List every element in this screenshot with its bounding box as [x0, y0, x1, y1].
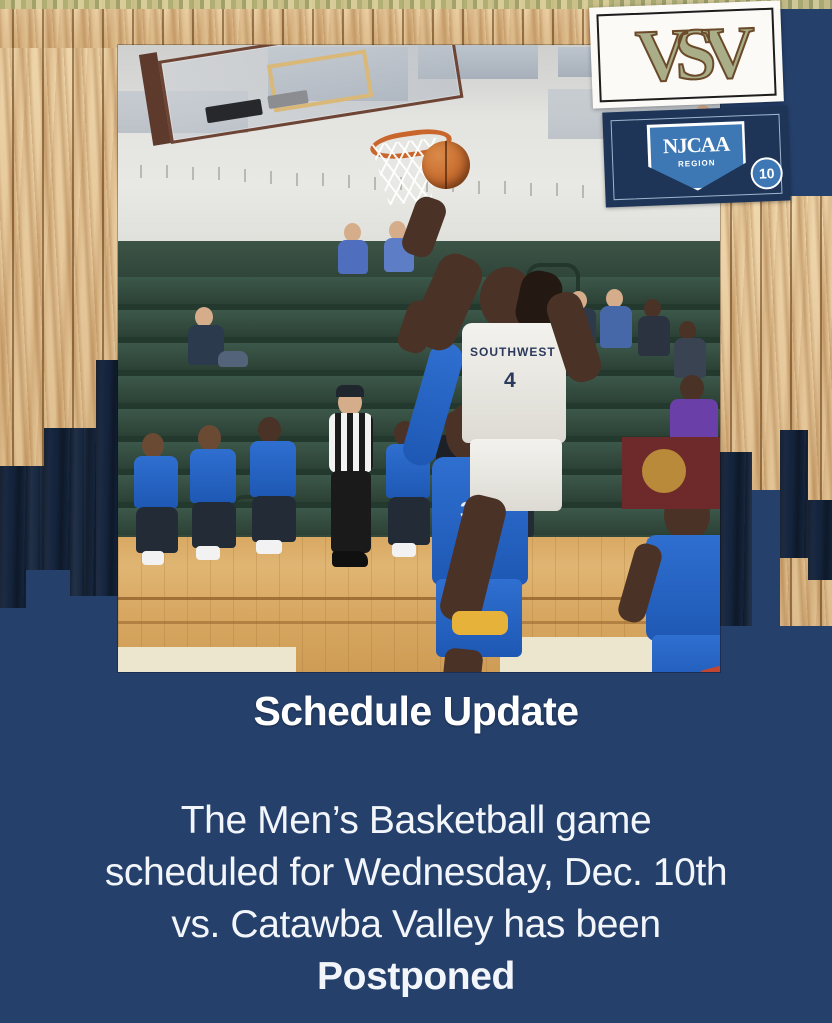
shooter-jersey-team: SOUTHWEST — [470, 345, 556, 359]
message-line-1: The Men’s Basketball game — [0, 795, 832, 847]
vsv-school-logo: VSV — [589, 0, 784, 108]
announcement-message: The Men’s Basketball game scheduled for … — [0, 795, 832, 1003]
accent-block-right-1 — [720, 452, 752, 630]
accent-block-right-fill — [720, 626, 832, 686]
page-title: Schedule Update — [0, 688, 832, 735]
njcaa-region-10-logo: NJCAA REGION 10 — [602, 105, 791, 207]
table-emblem — [642, 449, 686, 493]
accent-block-right-2 — [780, 430, 808, 558]
schedule-update-poster: 34 SOUTHWEST 4 — [0, 0, 832, 1023]
vsv-logo-text: VSV — [630, 15, 743, 93]
njcaa-region-number: 10 — [750, 156, 783, 189]
accent-block-right-3 — [808, 500, 832, 580]
message-line-2: scheduled for Wednesday, Dec. 10th — [0, 847, 832, 899]
accent-block-left-3 — [96, 360, 120, 635]
njcaa-wordmark: NJCAA — [663, 131, 730, 159]
shooter-jersey-number: 4 — [504, 369, 517, 393]
accent-block-right-4 — [752, 490, 780, 630]
status-badge: Postponed — [0, 951, 832, 1003]
accent-block-left-fill — [0, 626, 120, 682]
basketball — [422, 141, 470, 189]
njcaa-shield-icon: NJCAA REGION — [646, 121, 747, 193]
njcaa-region-label: REGION — [678, 158, 716, 168]
message-line-3: vs. Catawba Valley has been — [0, 899, 832, 951]
